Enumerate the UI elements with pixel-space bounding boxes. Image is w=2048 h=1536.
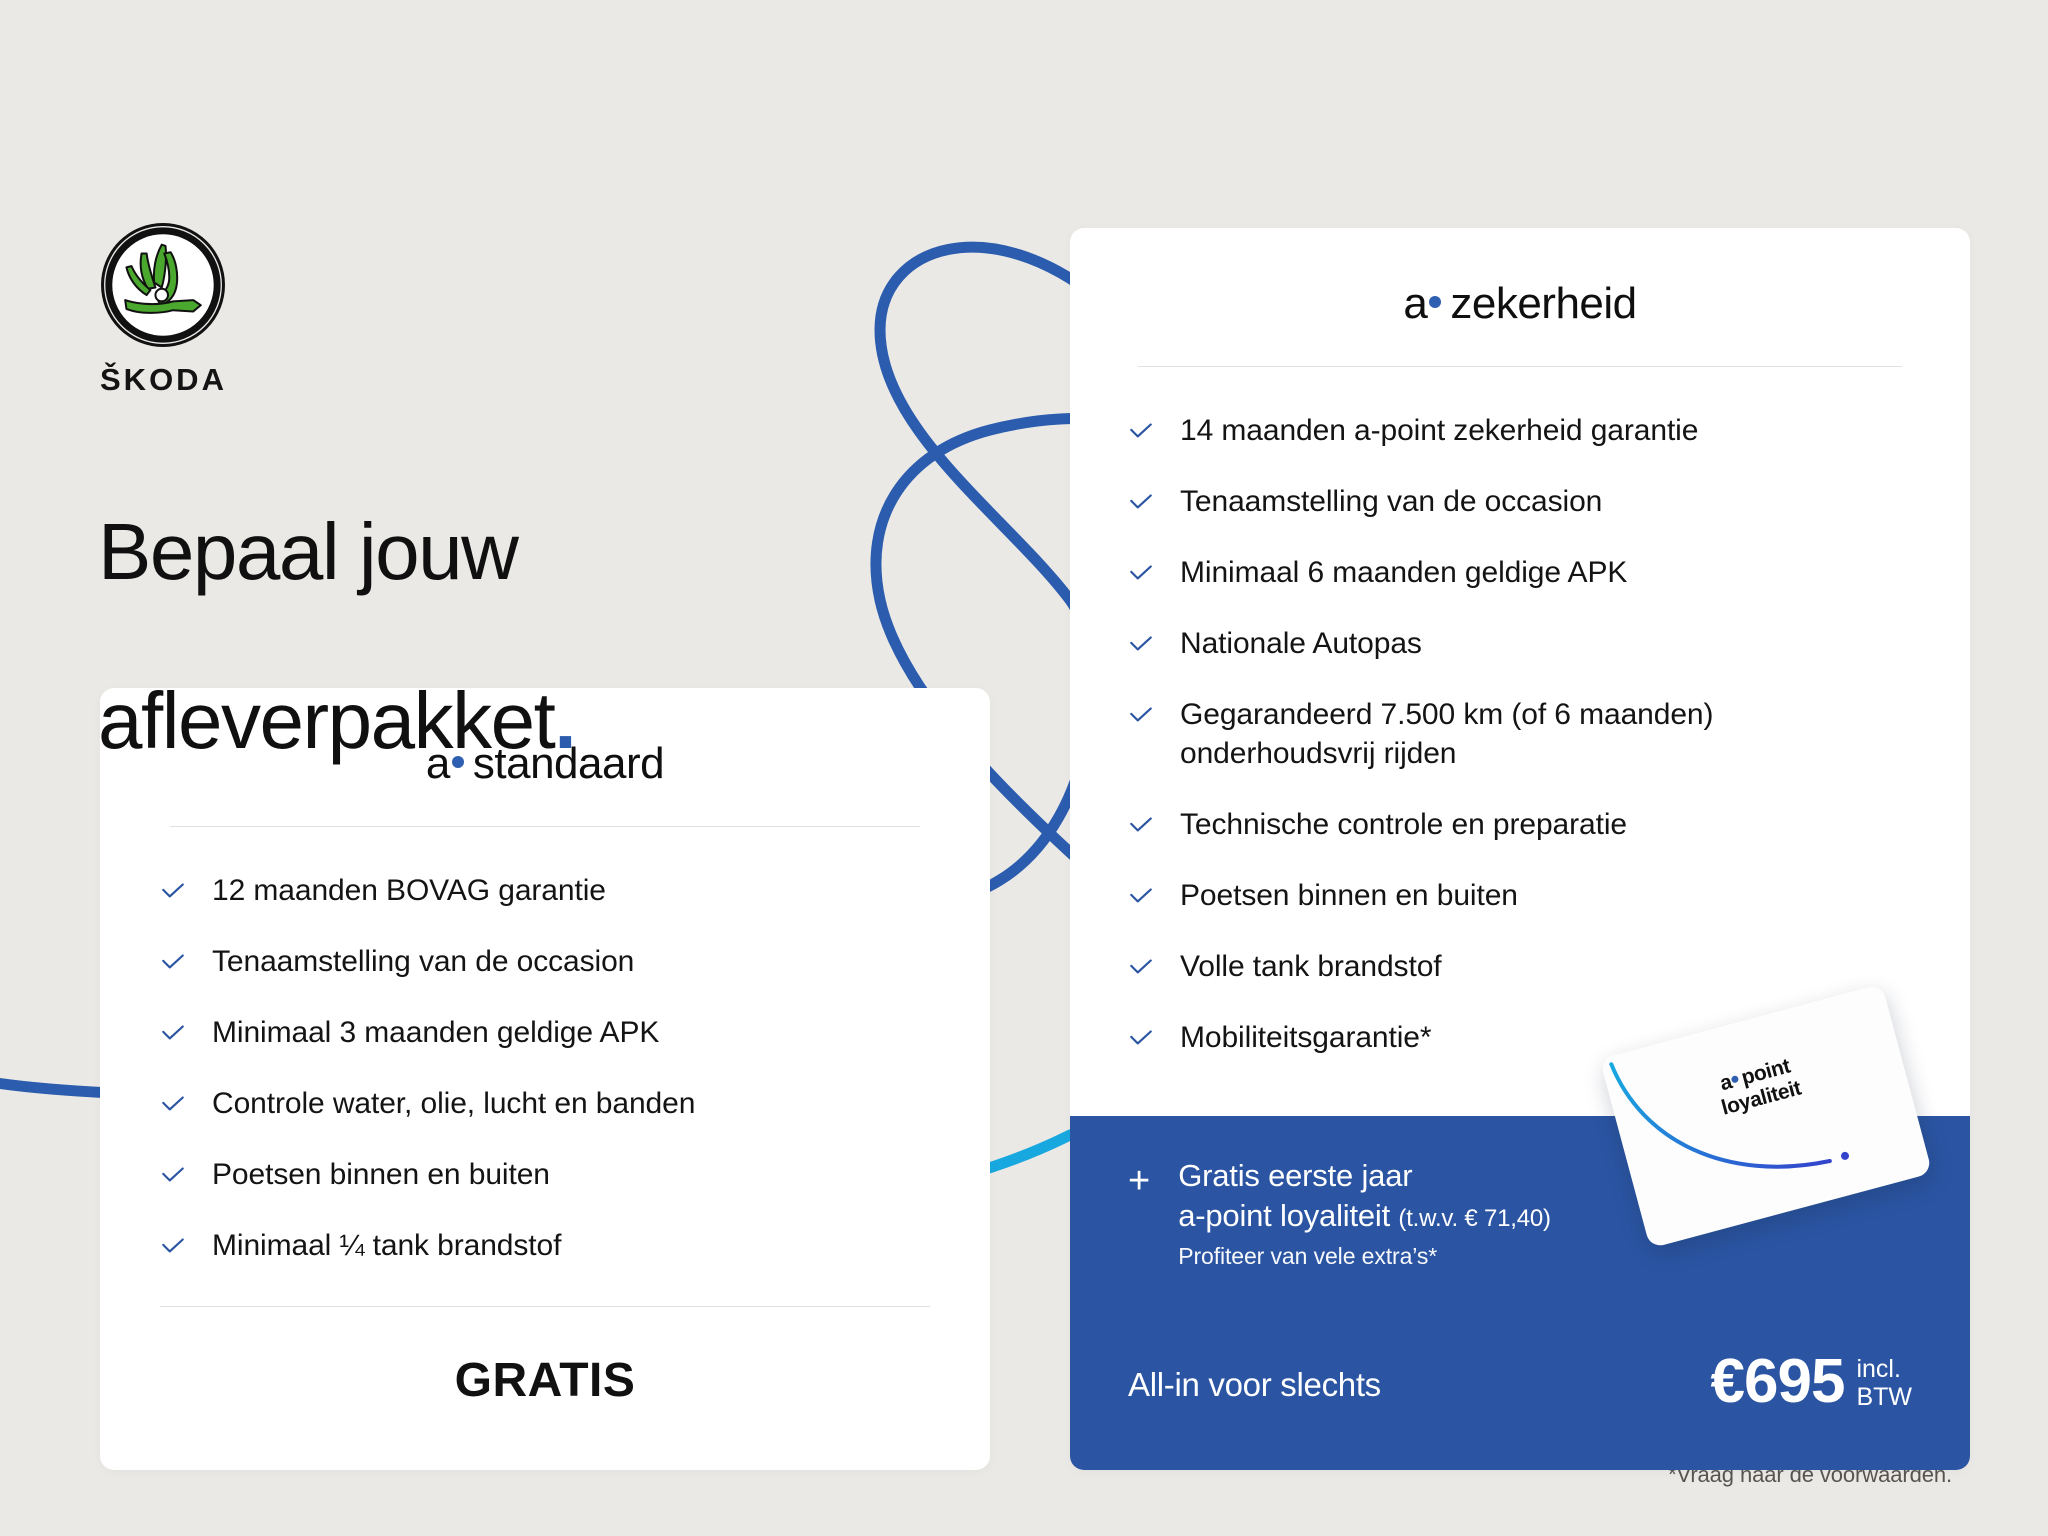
package-card-standaard[interactable]: astandaard 12 maanden BOVAG garantie Ten…	[100, 688, 990, 1470]
price-label: All-in voor slechts	[1128, 1366, 1381, 1412]
headline-accent-dot: .	[554, 676, 575, 765]
check-icon	[160, 1091, 186, 1117]
list-item: Nationale Autopas	[1128, 624, 1912, 663]
feature-label: Poetsen binnen en buiten	[212, 1155, 550, 1194]
headline-line-2: afleverpakket	[98, 676, 554, 765]
brand-block: ŠKODA	[100, 222, 227, 395]
list-item: Minimaal 3 maanden geldige APK	[160, 1013, 930, 1052]
poster-canvas: ŠKODA Bepaal jouw afleverpakket. astanda…	[0, 0, 2048, 1536]
brand-dot-icon	[1429, 296, 1441, 308]
bonus-subtitle: Profiteer van vele extra’s*	[1178, 1243, 1551, 1270]
list-item: Volle tank brandstof	[1128, 947, 1912, 986]
standaard-price-area: GRATIS	[160, 1306, 930, 1408]
divider	[170, 826, 920, 827]
skoda-logo-icon	[100, 222, 226, 348]
feature-label: 12 maanden BOVAG garantie	[212, 871, 606, 910]
check-icon	[160, 878, 186, 904]
check-icon	[1128, 631, 1154, 657]
check-icon	[160, 1020, 186, 1046]
feature-label: Tenaamstelling van de occasion	[1180, 482, 1602, 521]
price-row: All-in voor slechts €695 incl. BTW	[1128, 1353, 1912, 1413]
price-amount: €695	[1711, 1353, 1845, 1412]
list-item: Minimaal 6 maanden geldige APK	[1128, 553, 1912, 592]
list-item: Gegarandeerd 7.500 km (of 6 maanden) ond…	[1128, 695, 1912, 773]
list-item: Tenaamstelling van de occasion	[160, 942, 930, 981]
card-title-zekerheid: azekerheid	[1128, 280, 1912, 328]
price-tax-note: incl. BTW	[1856, 1355, 1912, 1413]
list-item: 14 maanden a-point zekerheid garantie	[1128, 411, 1912, 450]
list-item: 12 maanden BOVAG garantie	[160, 871, 930, 910]
list-item: Poetsen binnen en buiten	[1128, 876, 1912, 915]
check-icon	[1128, 954, 1154, 980]
bonus-value: (t.w.v. € 71,40)	[1398, 1205, 1550, 1232]
plus-icon: +	[1128, 1162, 1150, 1200]
check-icon	[1128, 418, 1154, 444]
feature-label: Gegarandeerd 7.500 km (of 6 maanden) ond…	[1180, 695, 1912, 773]
list-item: Poetsen binnen en buiten	[160, 1155, 930, 1194]
feature-label: Controle water, olie, lucht en banden	[212, 1084, 695, 1123]
skoda-wordmark: ŠKODA	[100, 364, 227, 395]
feature-label: Minimaal 6 maanden geldige APK	[1180, 553, 1627, 592]
list-item: Tenaamstelling van de occasion	[1128, 482, 1912, 521]
feature-label: Minimaal ¼ tank brandstof	[212, 1226, 561, 1265]
feature-label: Volle tank brandstof	[1180, 947, 1442, 986]
bonus-line-1: Gratis eerste jaar	[1178, 1156, 1551, 1196]
feature-label: Minimaal 3 maanden geldige APK	[212, 1013, 659, 1052]
check-icon	[1128, 812, 1154, 838]
check-icon	[160, 949, 186, 975]
feature-label: Nationale Autopas	[1180, 624, 1422, 663]
check-icon	[160, 1233, 186, 1259]
check-icon	[1128, 489, 1154, 515]
loyalty-prefix: a	[1717, 1070, 1734, 1095]
check-icon	[1128, 1025, 1154, 1051]
brand-dot-icon	[1731, 1075, 1740, 1084]
check-icon	[160, 1162, 186, 1188]
card-title-prefix: a	[1403, 279, 1427, 328]
feature-label: Technische controle en preparatie	[1180, 805, 1627, 844]
feature-label: Mobiliteitsgarantie*	[1180, 1018, 1431, 1057]
card-title-text: zekerheid	[1450, 279, 1636, 328]
feature-label: Tenaamstelling van de occasion	[212, 942, 634, 981]
feature-label: 14 maanden a-point zekerheid garantie	[1180, 411, 1698, 450]
divider	[160, 1306, 930, 1307]
list-item: Technische controle en preparatie	[1128, 805, 1912, 844]
feature-list-zekerheid: 14 maanden a-point zekerheid garantie Te…	[1128, 411, 1912, 1057]
feature-label: Poetsen binnen en buiten	[1180, 876, 1518, 915]
price-block: €695 incl. BTW	[1711, 1353, 1912, 1413]
feature-list-standaard: 12 maanden BOVAG garantie Tenaamstelling…	[160, 871, 930, 1265]
page-title: Bepaal jouw afleverpakket.	[98, 425, 575, 764]
check-icon	[1128, 883, 1154, 909]
list-item: Controle water, olie, lucht en banden	[160, 1084, 930, 1123]
bonus-line-2: a-point loyaliteit	[1178, 1198, 1390, 1233]
divider	[1138, 366, 1902, 367]
headline-line-1: Bepaal jouw	[98, 507, 517, 596]
standaard-price-label: GRATIS	[160, 1353, 930, 1408]
check-icon	[1128, 702, 1154, 728]
list-item: Minimaal ¼ tank brandstof	[160, 1226, 930, 1265]
check-icon	[1128, 560, 1154, 586]
